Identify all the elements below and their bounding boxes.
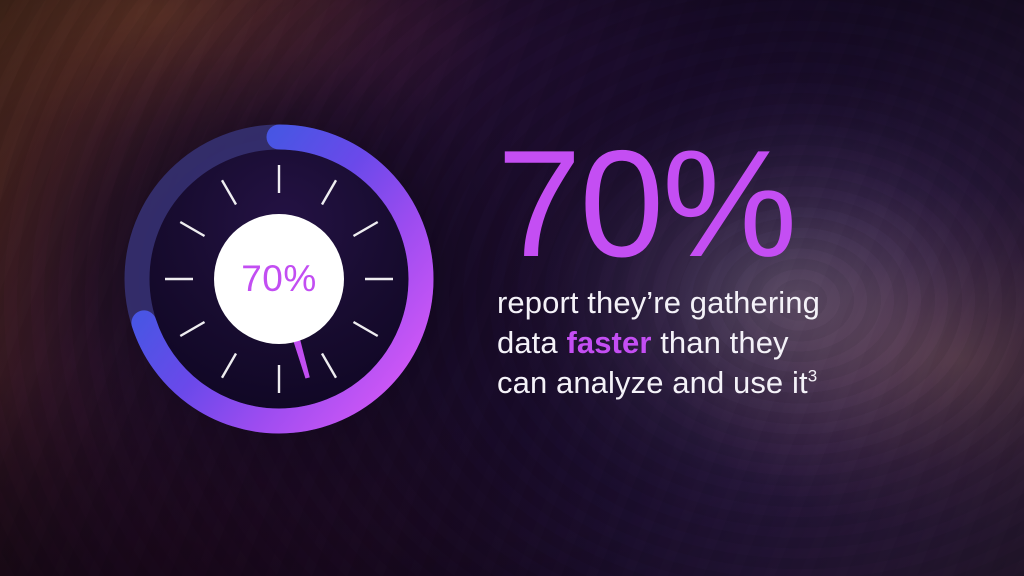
copy-line-3: can analyze and use it3 xyxy=(497,363,967,403)
copy-line-3-text: can analyze and use it xyxy=(497,365,808,400)
statistic-copy-block: 70% report they’re gathering data faster… xyxy=(497,142,967,404)
copy-emphasis-faster: faster xyxy=(566,325,651,360)
copy-line-1-text: report they’re gathering xyxy=(497,285,820,320)
footnote-reference: 3 xyxy=(808,367,818,386)
gauge-center-disc xyxy=(214,214,344,344)
copy-line-1: report they’re gathering xyxy=(497,283,967,323)
copy-line-2: data faster than they xyxy=(497,323,967,363)
infographic-slide: 70% 70% report they’re gathering data fa… xyxy=(0,0,1024,576)
copy-line-2-before: data xyxy=(497,325,566,360)
headline-statistic: 70% xyxy=(497,142,967,267)
copy-line-2-after: than they xyxy=(652,325,789,360)
donut-progress-gauge: 70% xyxy=(118,118,440,440)
